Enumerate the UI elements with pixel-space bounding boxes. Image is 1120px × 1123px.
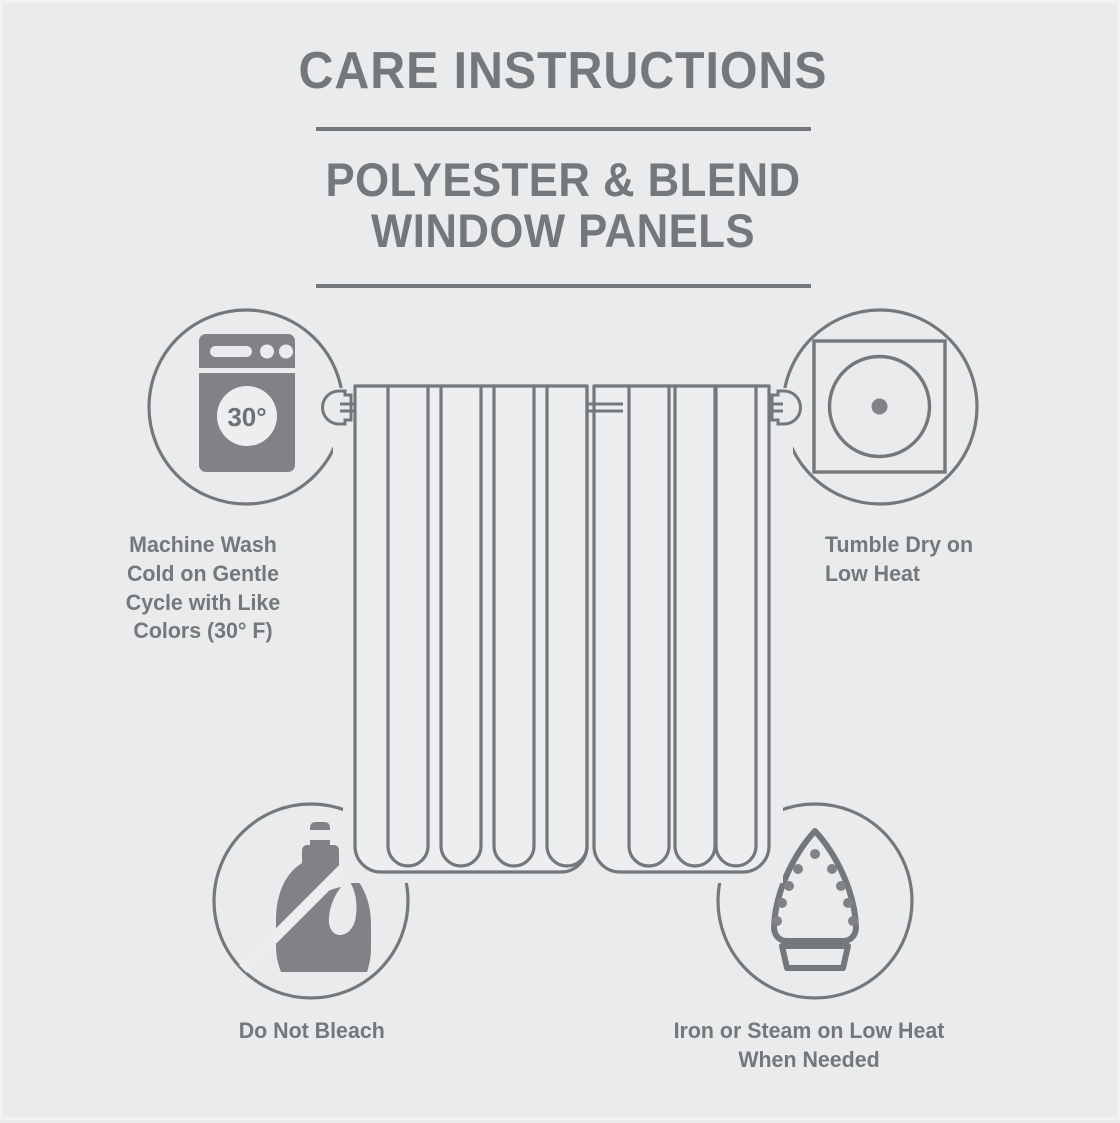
curtain-panel-left: [355, 386, 587, 872]
caption-do-not-bleach-line-1: Do Not Bleach: [193, 1017, 431, 1046]
caption-tumble-dry: Tumble Dry on Low Heat: [825, 531, 1053, 589]
caption-tumble-dry-line-1: Tumble Dry on: [825, 531, 1053, 560]
washing-machine-icon: 30°: [199, 334, 295, 472]
curtain-panel-right: [594, 386, 769, 872]
caption-machine-wash-line-4: Colors (30° F): [89, 617, 317, 646]
iron-steam-holes: [772, 849, 858, 926]
wash-temperature-badge: 30°: [227, 402, 266, 432]
caption-do-not-bleach: Do Not Bleach: [193, 1017, 431, 1046]
care-instructions-infographic: CARE INSTRUCTIONS POLYESTER & BLEND WIND…: [0, 0, 1120, 1120]
caption-iron: Iron or Steam on Low Heat When Needed: [619, 1017, 999, 1075]
iron-icon: [772, 831, 858, 968]
iron-base: [782, 946, 848, 968]
caption-machine-wash-line-2: Cold on Gentle: [89, 560, 317, 589]
caption-machine-wash-line-3: Cycle with Like: [89, 589, 317, 618]
caption-tumble-dry-line-2: Low Heat: [825, 560, 1053, 589]
caption-machine-wash-line-1: Machine Wash: [89, 531, 317, 560]
caption-machine-wash: Machine Wash Cold on Gentle Cycle with L…: [89, 531, 317, 646]
tumble-dry-low-icon: [814, 341, 945, 472]
caption-iron-line-1: Iron or Steam on Low Heat: [619, 1017, 999, 1046]
caption-iron-line-2: When Needed: [619, 1046, 999, 1075]
curtain-panels-on-rod: [323, 383, 801, 883]
